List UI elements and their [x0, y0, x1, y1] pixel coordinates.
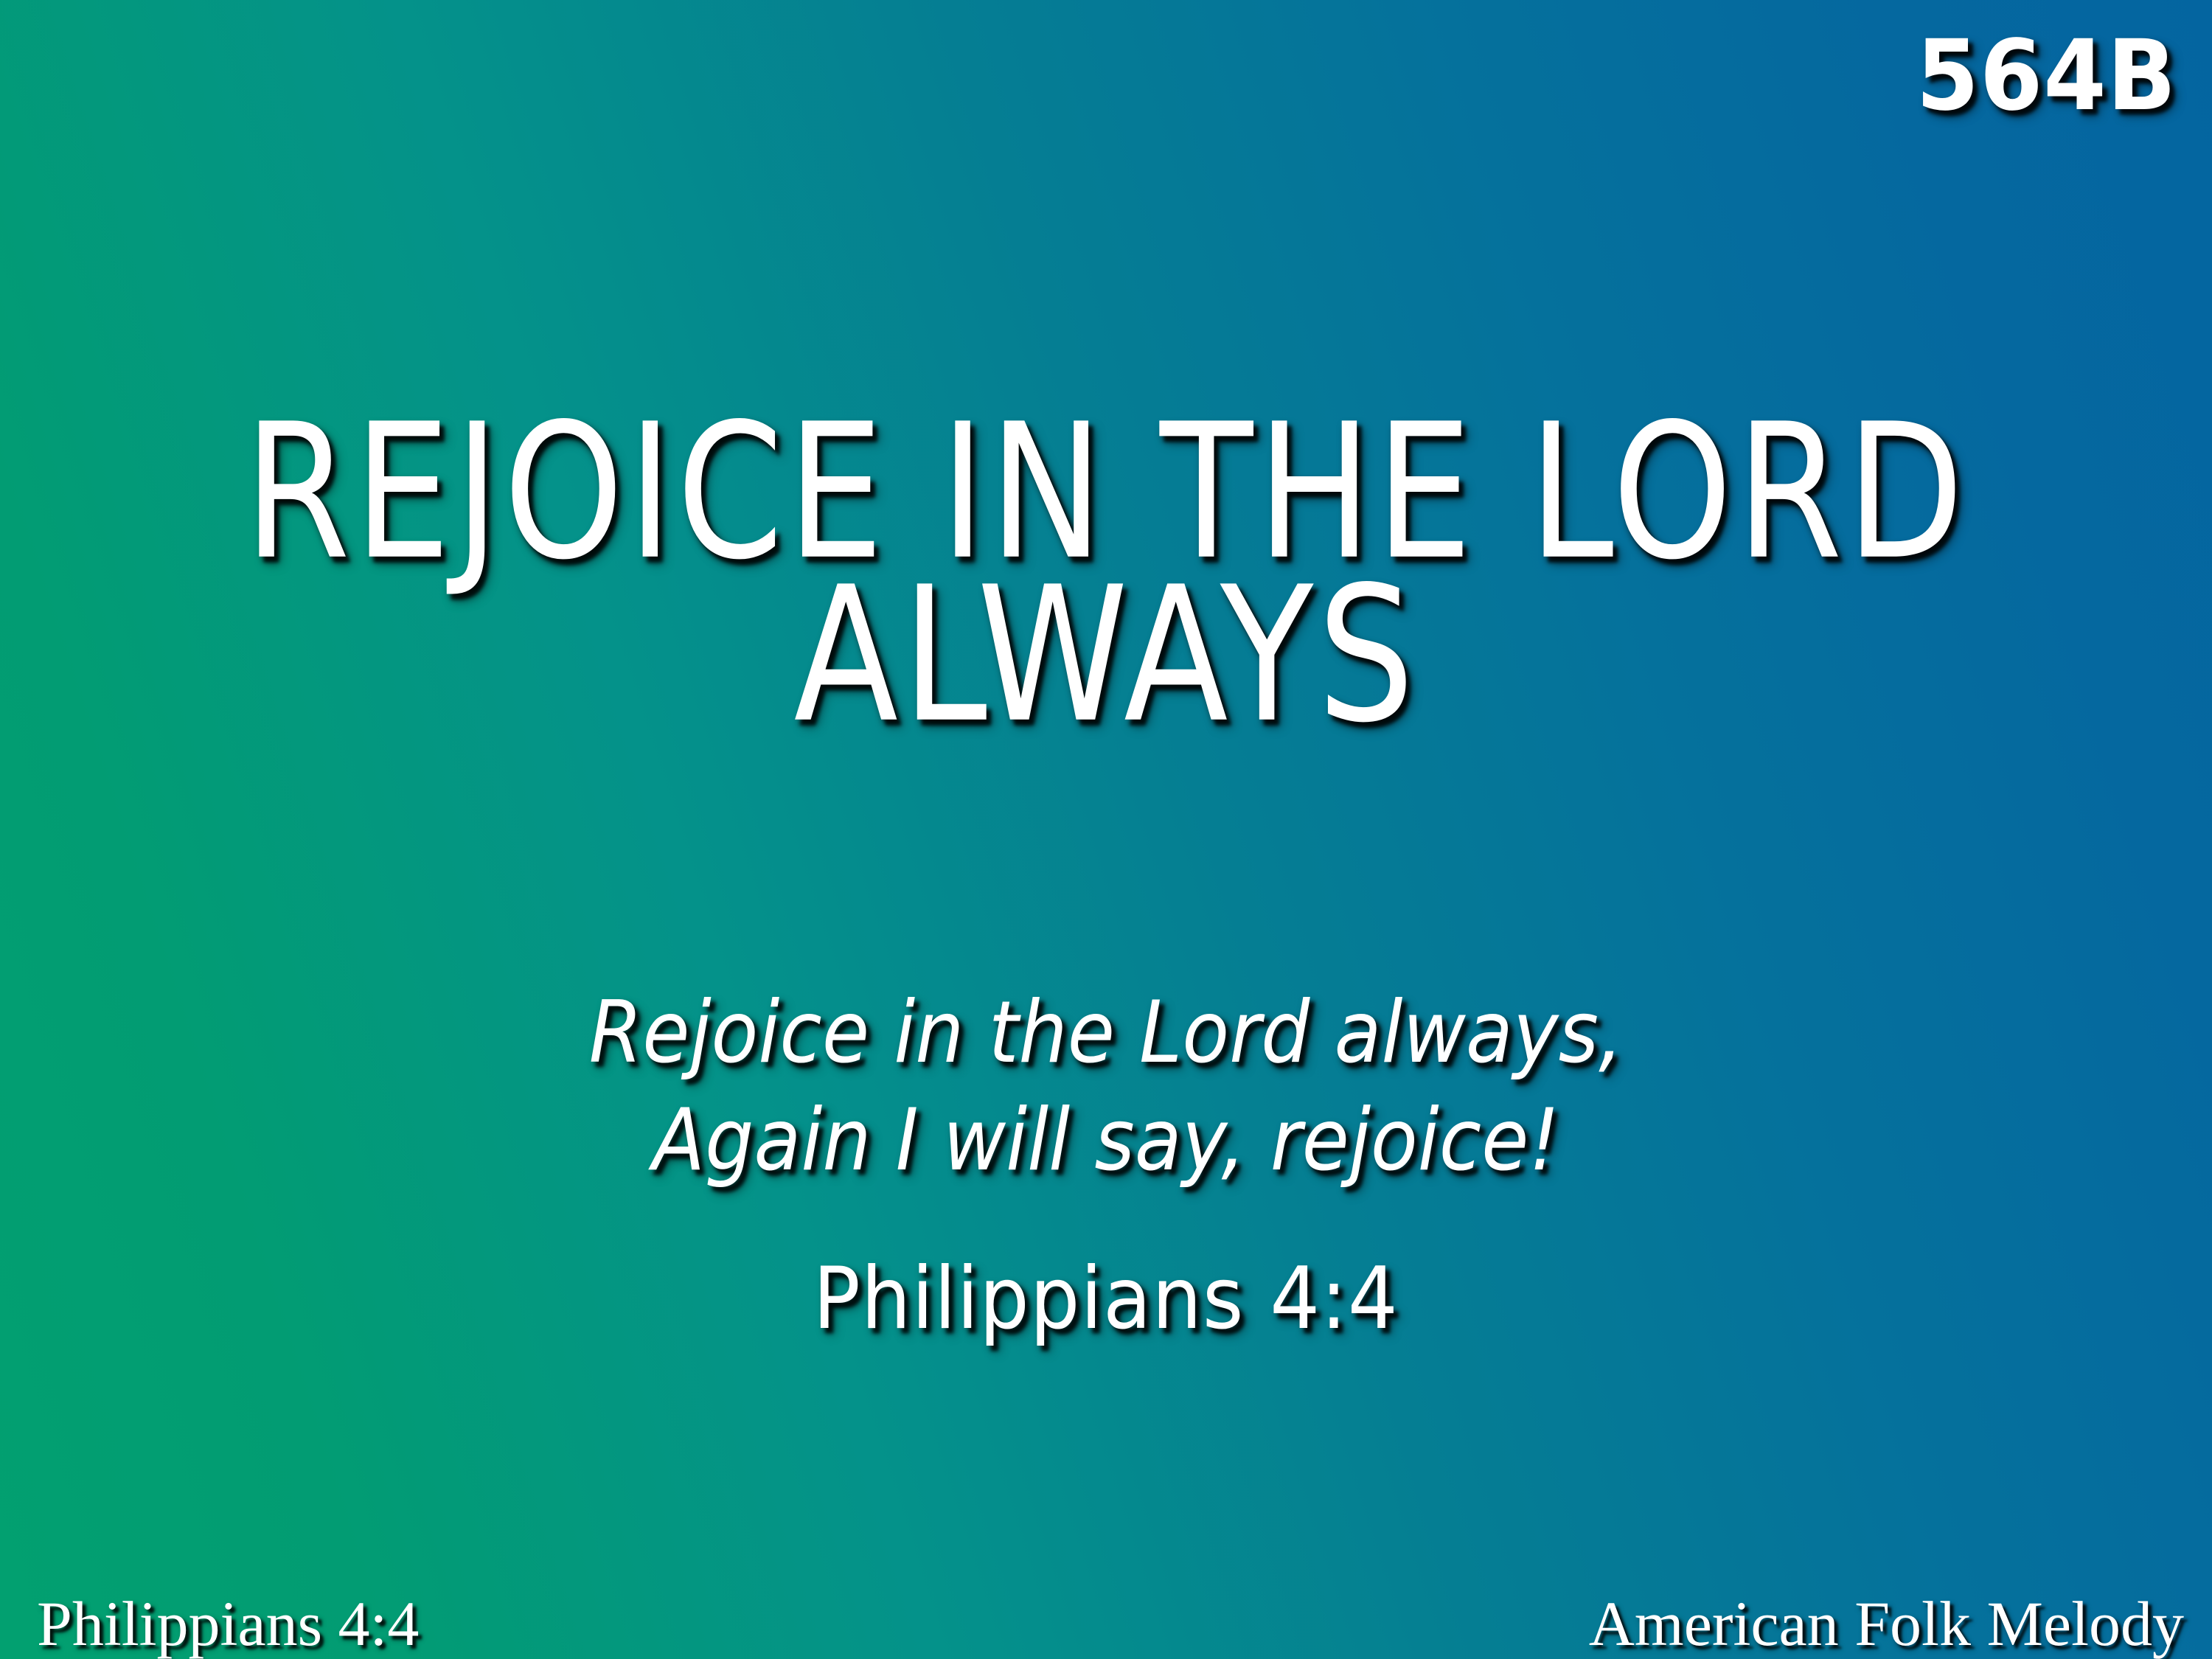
footer-melody-credit: American Folk Melody [1589, 1590, 2184, 1658]
title-line-2: ALWAYS [190, 567, 2022, 746]
verse-reference-block: Philippians 4:4 [103, 1248, 2109, 1350]
footer-scripture-reference: Philippians 4:4 [37, 1590, 419, 1658]
slide-number: 564B [1916, 19, 2177, 134]
verse-line-2: Again I will say, rejoice! [204, 1087, 2008, 1194]
verse-text: Rejoice in the Lord always, Again I will… [103, 979, 2109, 1194]
verse-line-1: Rejoice in the Lord always, [204, 979, 2008, 1087]
hymn-slide: 564B REJOICE IN THE LORD ALWAYS Rejoice … [0, 0, 2212, 1659]
verse-reference: Philippians 4:4 [813, 1248, 1399, 1350]
slide-title: REJOICE IN THE LORD ALWAYS [88, 404, 2124, 730]
